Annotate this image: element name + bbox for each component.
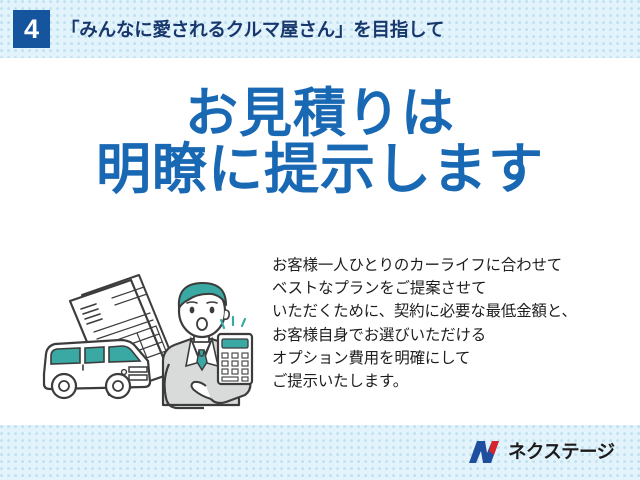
body-copy-line-4: お客様自身でお選びいただける <box>272 324 634 347</box>
brand-logo: ネクステージ <box>468 438 628 468</box>
body-copy-line-2: ベストなプランをご提案させて <box>272 277 634 300</box>
sales-illustration <box>36 262 268 420</box>
brand-wordmark: ネクステージ <box>508 441 614 463</box>
body-copy-line-1: お客様一人ひとりのカーライフに合わせて <box>272 254 634 277</box>
body-copy: お客様一人ひとりのカーライフに合わせて ベストなプランをご提案させて いただくた… <box>272 254 634 393</box>
body-copy-line-3: いただくために、契約に必要な最低金額と、 <box>272 300 634 323</box>
van-illustration <box>44 340 150 398</box>
nexstage-n-mark-icon <box>468 439 502 465</box>
section-number-badge: 4 <box>13 10 50 48</box>
body-copy-line-6: ご提示いたします。 <box>272 370 634 393</box>
calculator-icon <box>218 334 252 384</box>
header-title: 「みんなに愛されるクルマ屋さん」を目指して <box>61 16 444 43</box>
headline-line-1: お見積りは <box>0 86 640 141</box>
page-headline: お見積りは 明瞭に提示します <box>0 86 640 198</box>
body-copy-line-5: オプション費用を明確にして <box>272 347 634 370</box>
advertisement-banner: 4 「みんなに愛されるクルマ屋さん」を目指して お見積りは 明瞭に提示します <box>0 0 640 480</box>
headline-line-2: 明瞭に提示します <box>0 141 640 198</box>
